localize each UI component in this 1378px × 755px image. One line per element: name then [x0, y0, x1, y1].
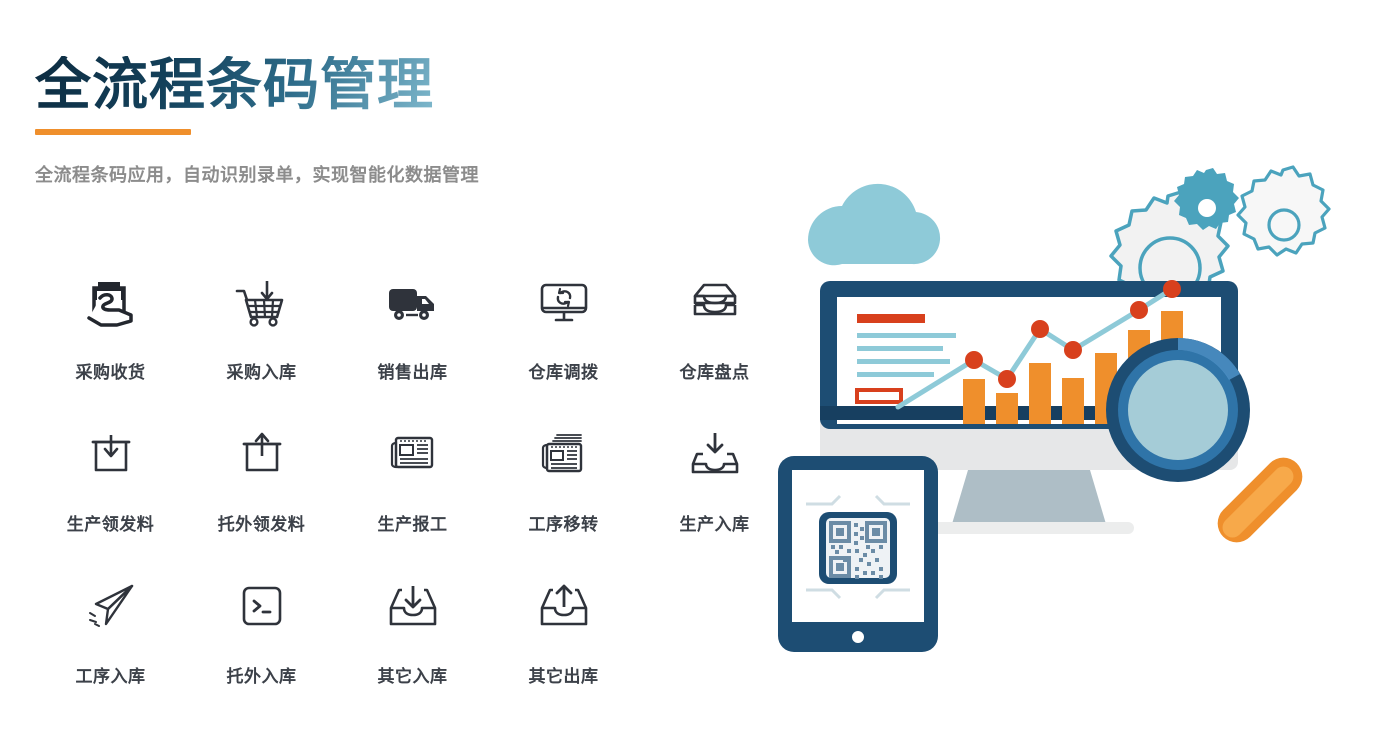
- page-subtitle: 全流程条码应用，自动识别录单，实现智能化数据管理: [35, 161, 479, 187]
- feature-item-other-inbound[interactable]: 其它入库: [337, 576, 488, 728]
- tablet-device: [778, 456, 938, 652]
- feature-label: 工序入库: [76, 662, 146, 687]
- terminal-icon: [233, 576, 291, 638]
- barcode-analytics-illustration: [778, 140, 1378, 700]
- gear-medium-icon: [1238, 167, 1329, 255]
- feature-item-process-transfer[interactable]: 工序移转: [488, 424, 639, 576]
- icon-row-3: 工序入库 托外入库 其它入库: [35, 576, 795, 728]
- feature-item-warehouse-stocktake[interactable]: 仓库盘点: [639, 272, 790, 424]
- feature-label: 采购入库: [227, 358, 297, 383]
- feature-label: 生产报工: [378, 510, 448, 535]
- screen-headline-bar: [857, 314, 925, 323]
- feature-label: 仓库盘点: [680, 358, 750, 383]
- feature-item-purchase-inbound[interactable]: 采购入库: [186, 272, 337, 424]
- feature-item-production-inbound[interactable]: 生产入库: [639, 424, 790, 576]
- header-block: 全流程条码管理 全流程条码应用，自动识别录单，实现智能化数据管理: [35, 56, 479, 187]
- stacked-trays-icon: [686, 272, 744, 334]
- hand-box-icon: [82, 272, 140, 334]
- feature-item-purchase-receive[interactable]: 采购收货: [35, 272, 186, 424]
- feature-item-sales-outbound[interactable]: 销售出库: [337, 272, 488, 424]
- feature-item-production-report[interactable]: 生产报工: [337, 424, 488, 576]
- magnifier-icon: [1106, 338, 1310, 550]
- feature-label: 托外领发料: [218, 510, 306, 535]
- feature-item-production-issue[interactable]: 生产领发料: [35, 424, 186, 576]
- monitor-refresh-icon: [535, 272, 593, 334]
- feature-item-empty: [639, 576, 790, 728]
- feature-item-other-outbound[interactable]: 其它出库: [488, 576, 639, 728]
- page-title: 全流程条码管理: [35, 56, 479, 115]
- delivery-truck-icon: [384, 272, 442, 334]
- paper-plane-icon: [82, 576, 140, 638]
- tray-down-arrow-icon: [384, 576, 442, 638]
- tablet-home-button: [852, 631, 864, 643]
- tray-up-arrow-icon: [535, 576, 593, 638]
- feature-item-outsource-inbound[interactable]: 托外入库: [186, 576, 337, 728]
- feature-label: 生产入库: [680, 510, 750, 535]
- feature-label: 仓库调拨: [529, 358, 599, 383]
- feature-label: 生产领发料: [67, 510, 155, 535]
- feature-label: 工序移转: [529, 510, 599, 535]
- feature-item-outsource-issue[interactable]: 托外领发料: [186, 424, 337, 576]
- feature-label: 采购收货: [76, 358, 146, 383]
- newspaper-icon: [384, 424, 442, 486]
- title-underline-accent: [35, 129, 191, 135]
- feature-label: 销售出库: [378, 358, 448, 383]
- box-up-arrow-icon: [233, 424, 291, 486]
- feature-label: 其它出库: [529, 662, 599, 687]
- icon-row-2: 生产领发料 托外领发料: [35, 424, 795, 576]
- cart-down-arrow-icon: [233, 272, 291, 334]
- feature-icon-grid: 采购收货 采购入库: [35, 272, 795, 728]
- qr-code: [819, 512, 897, 584]
- newspaper-stack-icon: [535, 424, 593, 486]
- feature-item-process-inbound[interactable]: 工序入库: [35, 576, 186, 728]
- feature-item-warehouse-transfer[interactable]: 仓库调拨: [488, 272, 639, 424]
- feature-label: 其它入库: [378, 662, 448, 687]
- icon-row-1: 采购收货 采购入库: [35, 272, 795, 424]
- feature-label: 托外入库: [227, 662, 297, 687]
- cloud-icon: [808, 184, 940, 265]
- box-down-arrow-icon: [82, 424, 140, 486]
- inbox-down-arrow-icon: [686, 424, 744, 486]
